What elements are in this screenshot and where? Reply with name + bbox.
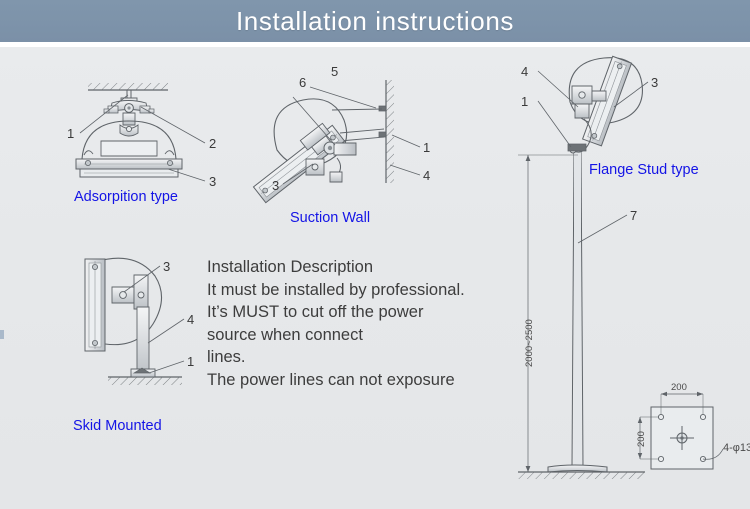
skid-ground-surface-icon: [108, 377, 182, 385]
diagram-adsorption-type: [76, 83, 205, 181]
page-title: Installation instructions: [0, 0, 750, 42]
base-plate-depth-dimension: 200: [636, 431, 647, 447]
floodlight-side-icon: [85, 258, 162, 377]
callout-skid-3: 3: [163, 259, 170, 274]
flange-stud-head-icon: [568, 56, 642, 153]
installation-description-text: Installation Description It must be inst…: [207, 256, 465, 391]
callout-flange-4: 4: [521, 64, 528, 79]
callout-suction-4: 4: [423, 168, 430, 183]
caption-flange-stud-type: Flange Stud type: [589, 162, 699, 178]
ceiling-mount-assembly-icon: [104, 90, 154, 136]
image-artifact: [0, 330, 4, 339]
callout-suction-6: 6: [299, 75, 306, 90]
callout-adsorption-1: 1: [67, 126, 74, 141]
caption-adsorption-type: Adsorpition type: [74, 189, 178, 205]
diagram-canvas: Adsorpition type Suction Wall Flange Stu…: [0, 47, 750, 509]
ground-surface-icon: [518, 472, 645, 479]
diagram-flange-stud-pole: [518, 56, 723, 479]
diagram-skid-mounted: [85, 258, 184, 385]
base-plate-hole-note: 4-φ13: [723, 442, 750, 454]
callout-pole-7: 7: [630, 208, 637, 223]
callout-adsorption-2: 2: [209, 136, 216, 151]
installation-instructions-page: Installation instructions: [0, 0, 750, 509]
callout-flange-3: 3: [651, 75, 658, 90]
callout-leaders-skid: [124, 266, 184, 373]
base-plate-width-dimension: 200: [671, 382, 687, 393]
callout-skid-4: 4: [187, 312, 194, 327]
caption-suction-wall: Suction Wall: [290, 210, 370, 226]
base-plate-detail: [638, 392, 723, 469]
wall-surface-icon: [386, 80, 394, 183]
callout-suction-3: 3: [272, 178, 279, 193]
ceiling-surface-icon: [88, 83, 168, 90]
caption-skid-mounted: Skid Mounted: [73, 418, 162, 434]
pole-height-dimension: 2000~2500: [524, 319, 535, 367]
callout-adsorption-3: 3: [209, 174, 216, 189]
pole-icon: [548, 150, 607, 472]
callout-suction-1: 1: [423, 140, 430, 155]
callout-skid-1: 1: [187, 354, 194, 369]
page-header: Installation instructions: [0, 0, 750, 42]
height-dimension-line: [518, 155, 578, 472]
floodlight-tilted-icon: [253, 99, 356, 203]
callout-flange-1: 1: [521, 94, 528, 109]
callout-suction-5: 5: [331, 64, 338, 79]
